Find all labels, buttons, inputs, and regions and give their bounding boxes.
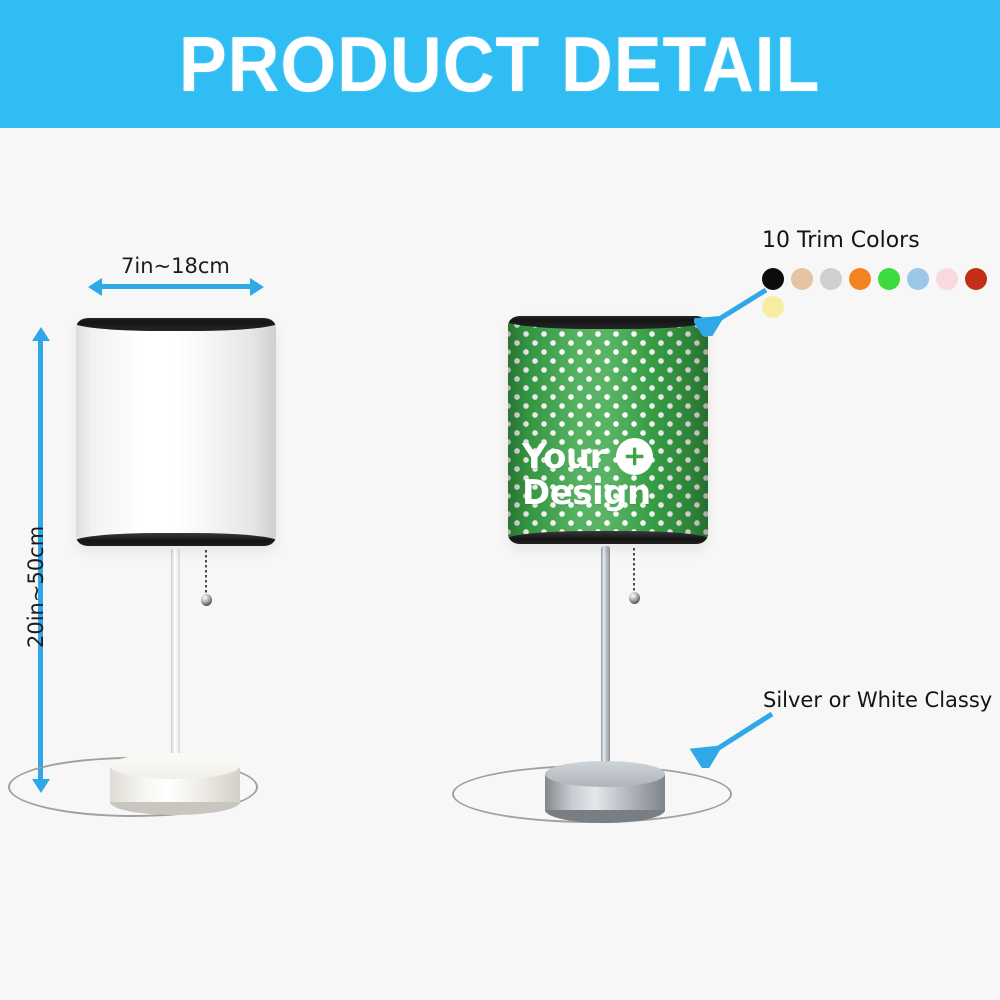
height-dimension-label: 20in~50cm	[24, 526, 48, 648]
trim-swatch-tan[interactable]	[791, 268, 813, 290]
base-finish-callout-label: Silver or White Classy	[763, 688, 992, 712]
trim-swatch-pale-yellow[interactable]	[762, 296, 784, 318]
right-lamp-base	[545, 761, 665, 823]
your-design-line-1: Your +	[522, 438, 653, 477]
left-lamp-shade-body	[76, 318, 276, 546]
header-banner: PRODUCT DETAIL	[0, 0, 1000, 128]
trim-swatch-light-blue[interactable]	[907, 268, 929, 290]
right-lamp-trim-bottom	[508, 531, 708, 544]
your-design-watermark: Your + Design	[522, 438, 653, 510]
left-lamp-trim-top	[76, 318, 276, 331]
right-lamp-pole	[601, 546, 610, 771]
left-lamp-trim-bottom	[76, 533, 276, 546]
trim-colors-swatch-grid	[762, 268, 998, 318]
trim-swatch-dark-red[interactable]	[965, 268, 987, 290]
trim-colors-title: 10 Trim Colors	[762, 228, 920, 253]
trim-colors-panel: 10 Trim Colors	[762, 228, 1000, 348]
your-design-word-your: Your	[522, 441, 606, 474]
trim-swatch-black[interactable]	[762, 268, 784, 290]
right-lamp-base-top	[545, 761, 665, 787]
right-lamp-trim-top	[508, 316, 708, 329]
product-detail-stage: 7in~18cm 20in~50cm Your +	[0, 128, 1000, 1000]
left-lamp-pole	[171, 548, 180, 763]
your-design-word-design: Design	[522, 477, 651, 510]
right-lamp-pull-chain[interactable]	[633, 548, 635, 596]
left-lamp-base	[110, 753, 240, 815]
width-dimension-arrow	[101, 284, 251, 289]
trim-swatch-light-gray[interactable]	[820, 268, 842, 290]
trim-swatch-orange[interactable]	[849, 268, 871, 290]
left-lamp-pull-chain-ball[interactable]	[201, 594, 212, 606]
trim-swatch-pink[interactable]	[936, 268, 958, 290]
right-lamp-shade: Your + Design	[508, 316, 708, 544]
left-lamp-shade	[76, 318, 276, 546]
your-design-line-2: Design	[522, 477, 653, 510]
left-lamp-base-top	[110, 753, 240, 779]
width-dimension-label: 7in~18cm	[121, 254, 230, 278]
base-finish-callout-arrow	[690, 708, 780, 768]
right-lamp-pull-chain-ball[interactable]	[629, 592, 640, 604]
trim-swatch-green[interactable]	[878, 268, 900, 290]
page-title: PRODUCT DETAIL	[179, 25, 820, 103]
plus-icon: +	[616, 438, 653, 475]
left-lamp-pull-chain[interactable]	[205, 550, 207, 598]
